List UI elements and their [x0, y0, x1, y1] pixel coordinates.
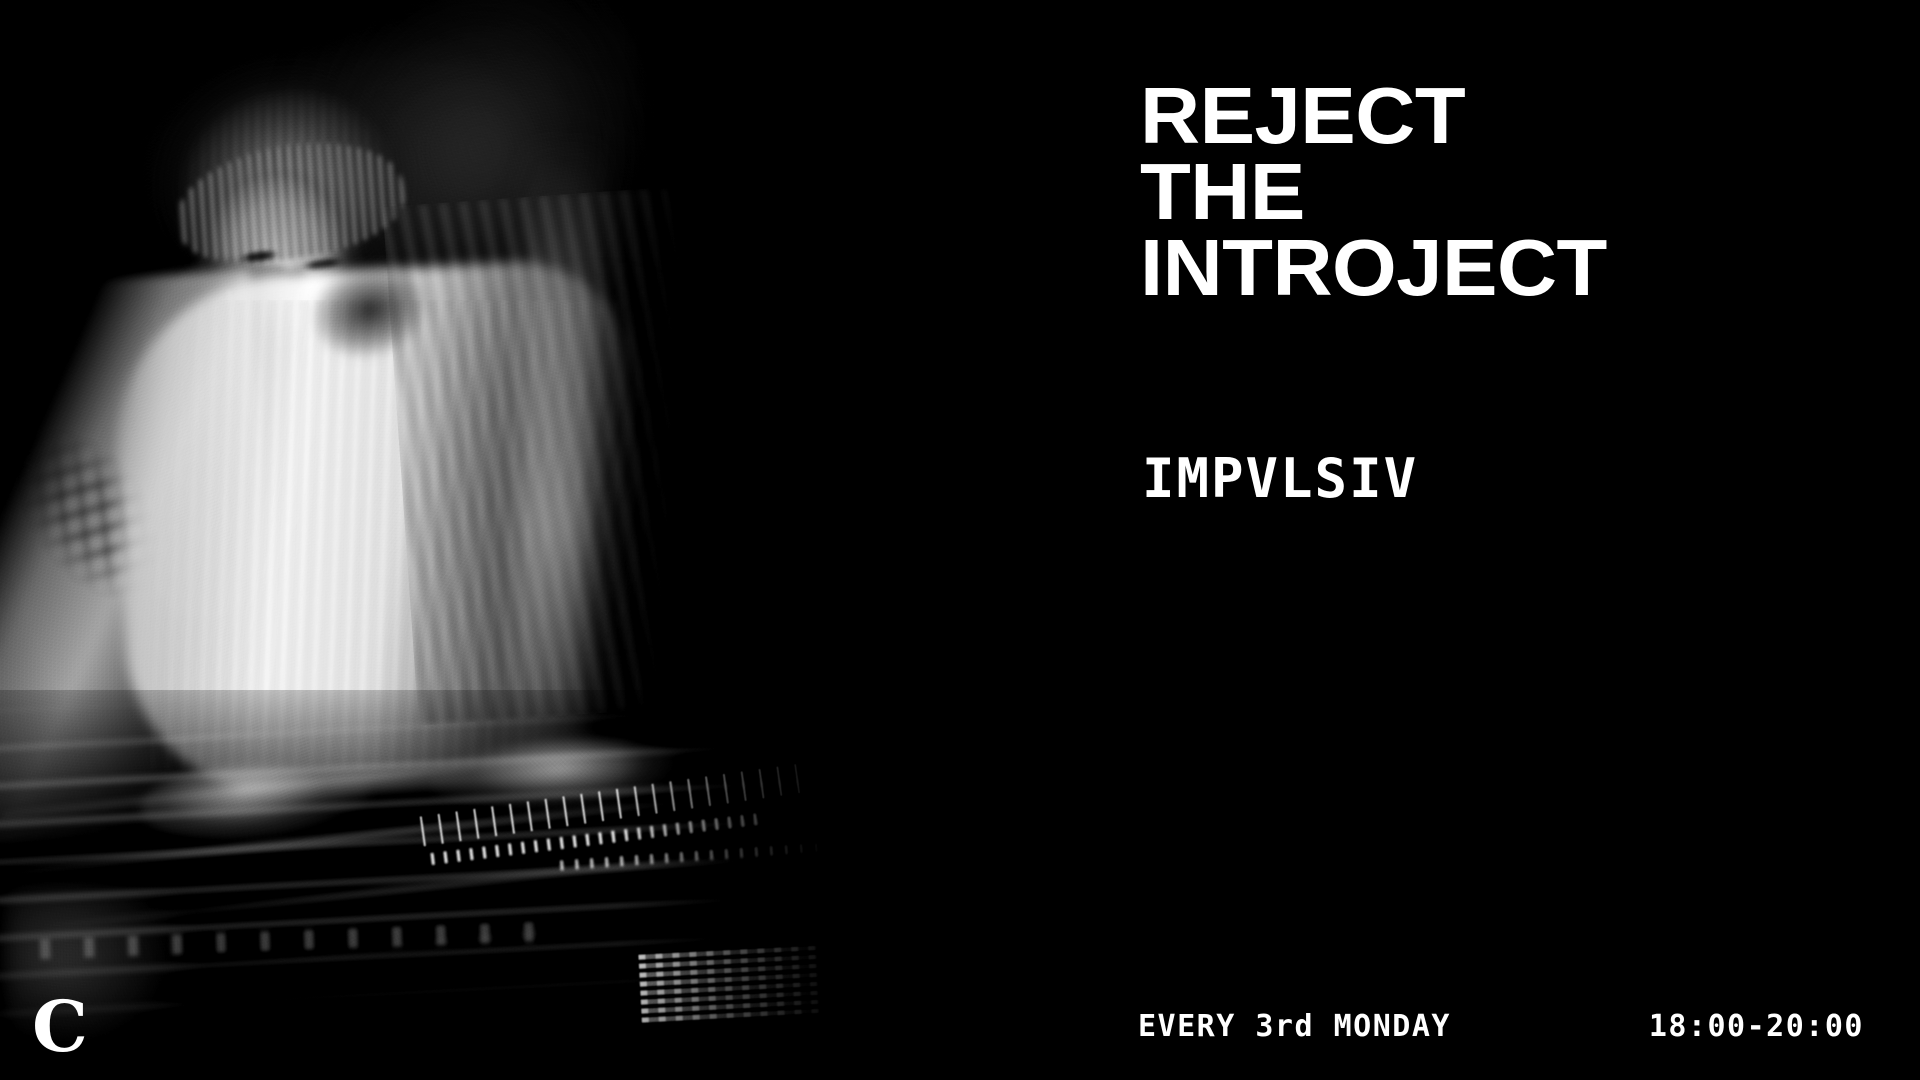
poster-footer: EVERY 3rd MONDAY 18:00-20:00 [880, 960, 1920, 1080]
headline-line-3: INTROJECT [1140, 230, 1607, 306]
headline-line-1: REJECT [1140, 78, 1607, 154]
photo-foreground-light [0, 880, 200, 1080]
poster-text-panel: REJECT THE INTROJECT IMPVLSIV EVERY 3rd … [880, 0, 1920, 1080]
footer-schedule: EVERY 3rd MONDAY [1138, 1009, 1451, 1044]
dj-photo-panel [0, 0, 880, 1080]
poster-headline: REJECT THE INTROJECT [1140, 78, 1589, 306]
dj-motion-blur-photo [0, 0, 880, 1080]
event-poster: C REJECT THE INTROJECT IMPVLSIV EVERY 3r… [0, 0, 1920, 1080]
photo-led-level-meter [638, 945, 821, 1022]
c-monogram-logo[interactable]: C [36, 996, 84, 1058]
poster-subtitle-artist: IMPVLSIV [1142, 452, 1418, 506]
headline-line-2: THE [1140, 154, 1607, 230]
photo-motion-smear-secondary [428, 219, 880, 701]
footer-time: 18:00-20:00 [1649, 1009, 1864, 1044]
